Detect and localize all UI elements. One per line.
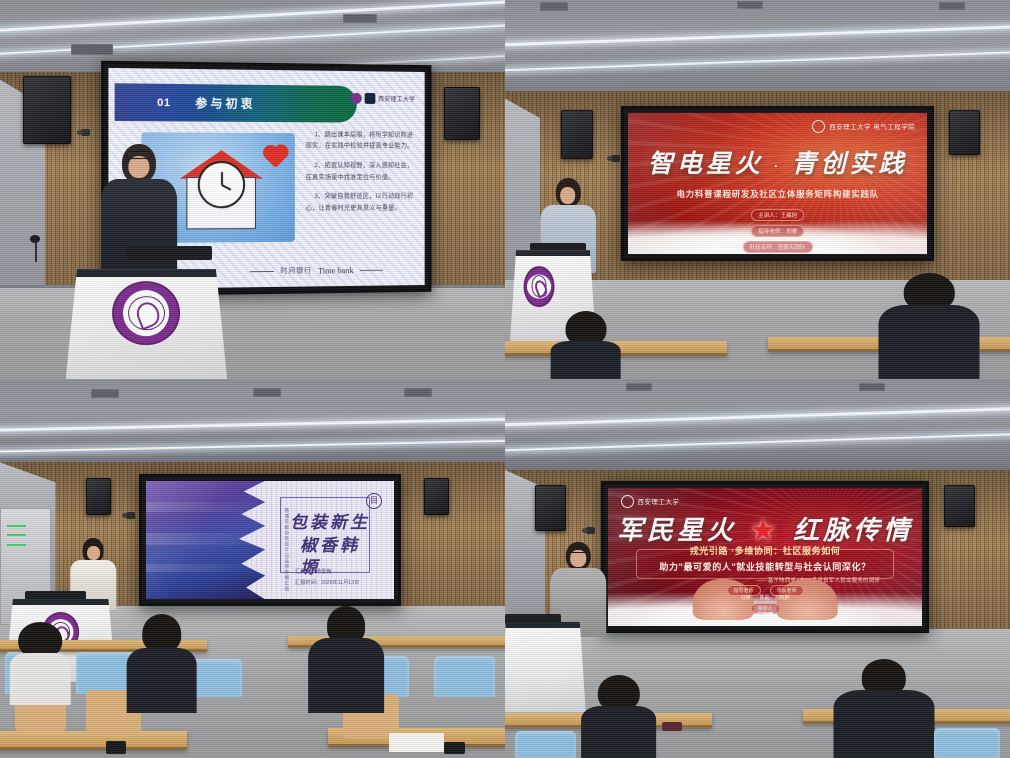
ceiling	[0, 379, 505, 470]
body-paragraph: 2、拓宽认知视野，深入感知社会，在真实场景中找准定位与价值。	[305, 160, 416, 183]
slide-purple: 韩城花椒包装设计与品牌传播实践 目 包装新生 椒香韩塬 汇报人：杨雪梅 汇报时间…	[146, 481, 395, 600]
landscape-photo	[146, 481, 265, 600]
podium	[66, 269, 228, 379]
podium-surface	[62, 269, 230, 277]
paper-on-desk	[389, 733, 445, 752]
panel-top-right: 西安理工大学 电气工程学院 智电星火 · 青创实践 电力科普课程研发及社区立体服…	[505, 0, 1010, 379]
audience-chair	[434, 656, 495, 698]
credit-name: 陈磊、刘晓鹏	[760, 594, 790, 601]
audience-member	[308, 606, 384, 712]
title-left: 军民星火	[617, 516, 737, 545]
logo-icon: 目	[366, 493, 382, 509]
panel-bottom-left: 韩城花椒包装设计与品牌传播实践 目 包装新生 椒香韩塬 汇报人：杨雪梅 汇报时间…	[0, 379, 505, 758]
seal-icon	[812, 120, 825, 133]
title-line-1: 包装新生	[290, 512, 375, 535]
section-number: 01	[157, 96, 171, 108]
projection-screen: 韩城花椒包装设计与品牌传播实践 目 包装新生 椒香韩塬 汇报人：杨雪梅 汇报时间…	[139, 474, 402, 607]
footer-cn: 时间银行	[280, 265, 312, 275]
ceiling-speaker	[949, 110, 979, 155]
title-right: 红脉传情	[793, 516, 913, 545]
panel-top-left: 01 参与初衷 西安理工大学	[0, 0, 505, 379]
camera-icon	[81, 129, 90, 136]
seal-icon	[621, 495, 634, 508]
audience-member	[833, 659, 934, 758]
projection-screen: 西安理工大学 电气工程学院 智电星火 · 青创实践 电力科普课程研发及社区立体服…	[621, 106, 934, 261]
credit-item: 指导老师：刘睿	[751, 225, 804, 237]
university-logo: 西安理工大学	[350, 92, 414, 103]
org-line: 西安理工大学 电气工程学院	[829, 122, 915, 131]
star-icon: ★	[751, 516, 778, 546]
slide-header-bar: 01 参与初衷	[114, 83, 356, 122]
logo-square-icon	[364, 92, 375, 103]
audience-member	[10, 622, 71, 705]
slide-subtitle: 电力科普课程研发及社区立体服务矩阵构建实践队	[628, 188, 927, 200]
glasses-icon	[126, 151, 151, 160]
presenter-head	[566, 542, 590, 570]
credits-names-2: 万润娜	[608, 611, 922, 619]
title-divider: ·	[774, 159, 781, 173]
info-line-1: 戎光引路 ·多维协同：社区服务如何	[690, 544, 841, 557]
university-emblem	[113, 281, 181, 345]
camera-icon	[126, 512, 135, 519]
slide-title: 智电星火 · 青创实践	[628, 144, 927, 180]
slide-footer: 时间银行 Time bank	[250, 265, 382, 276]
heart-icon	[264, 147, 285, 168]
object-on-desk	[662, 722, 682, 732]
ceiling	[505, 379, 1010, 478]
slide-red-military: 西安理工大学 军民星火 ★ 红脉传情 戎光引路 ·多维协同：社区服务如何 助力"…	[608, 488, 922, 626]
audience-member	[126, 614, 197, 713]
ceiling-speaker	[86, 478, 111, 516]
audience-member	[581, 675, 657, 758]
section-title: 参与初衷	[195, 94, 255, 112]
slide-meta: 汇报人：杨雪梅 汇报时间：2025年11月13日	[295, 567, 359, 589]
title-left: 智电星火	[648, 151, 764, 178]
ceiling-speaker	[944, 485, 974, 527]
logo-circle-icon	[350, 92, 361, 103]
microphone-icon	[126, 246, 212, 260]
audience-member	[550, 311, 621, 379]
credit-name: 冯楠	[741, 594, 751, 601]
info-line-2: 助力"最可爱的人"就业技能转型与社会认同深化？	[659, 560, 870, 573]
microphone-icon	[30, 235, 40, 243]
ceiling-speaker	[561, 110, 594, 159]
footer-en: Time bank	[317, 265, 353, 275]
podium-surface	[505, 622, 588, 628]
camera-icon	[611, 155, 620, 162]
university-mark: 西安理工大学 电气工程学院	[812, 120, 915, 133]
university-mark: 西安理工大学	[621, 495, 680, 508]
credits-list: 主讲人：王晨旭 指导老师：刘睿 队伍名称：团委实践队	[628, 209, 927, 253]
presenter-head	[122, 144, 156, 183]
podium	[505, 622, 586, 713]
university-emblem	[524, 266, 555, 308]
projection-screen: 西安理工大学 军民星火 ★ 红脉传情 戎光引路 ·多维协同：社区服务如何 助力"…	[601, 481, 929, 633]
slide-vertical-note: 韩城花椒包装设计与品牌传播实践	[284, 508, 290, 592]
body-paragraph: 3、突破自我舒适区，以行动践行初心，让青春时光更具意义与重量。	[305, 191, 416, 214]
credit-name: 万润娜	[757, 611, 773, 619]
org-line: 西安理工大学	[638, 497, 680, 506]
meta-date: 汇报时间：2025年11月13日	[295, 578, 359, 589]
audience-chair	[515, 731, 576, 758]
camera-icon	[586, 527, 595, 534]
slide-red-banner: 西安理工大学 电气工程学院 智电星火 · 青创实践 电力科普课程研发及社区立体服…	[628, 113, 927, 254]
panel-bottom-right: 西安理工大学 军民星火 ★ 红脉传情 戎光引路 ·多维协同：社区服务如何 助力"…	[505, 379, 1010, 758]
ceiling-speaker	[424, 478, 449, 516]
ceiling-speaker	[535, 485, 565, 530]
ceiling-speaker	[23, 76, 71, 144]
slide-body-text: 1、跳出课本局限，将所学知识照进现实，在实践中检验并提高专业能力。 2、拓宽认知…	[305, 128, 416, 221]
credit-item: 主讲人：王晨旭	[751, 209, 804, 221]
slide-title: 军民星火 ★ 红脉传情	[608, 510, 922, 547]
university-name: 西安理工大学	[378, 93, 415, 102]
photo-collage: 01 参与初衷 西安理工大学	[0, 0, 1010, 758]
podium-surface	[3, 599, 119, 605]
audience-chair	[934, 728, 1000, 758]
credit-item: 队伍名称：团委实践队	[743, 241, 813, 253]
audience-member	[879, 273, 980, 379]
slide-infobox: 戎光引路 ·多维协同：社区服务如何 助力"最可爱的人"就业技能转型与社会认同深化…	[636, 549, 894, 579]
podium-surface	[508, 250, 597, 256]
ceiling-speaker	[444, 87, 479, 140]
body-paragraph: 1、跳出课本局限，将所学知识照进现实，在实践中检验并提高专业能力。	[305, 128, 416, 152]
phone-on-desk	[106, 741, 126, 754]
title-right: 青创实践	[791, 151, 907, 178]
credits-names-1: 冯楠 陈磊、刘晓鹏	[608, 594, 922, 601]
meta-presenter: 汇报人：杨雪梅	[295, 567, 359, 578]
phone-on-desk	[444, 742, 464, 754]
time-bank-house-icon	[180, 150, 263, 229]
glasses-icon	[569, 547, 587, 553]
presenter-head	[556, 178, 580, 207]
clock-icon	[197, 160, 245, 208]
